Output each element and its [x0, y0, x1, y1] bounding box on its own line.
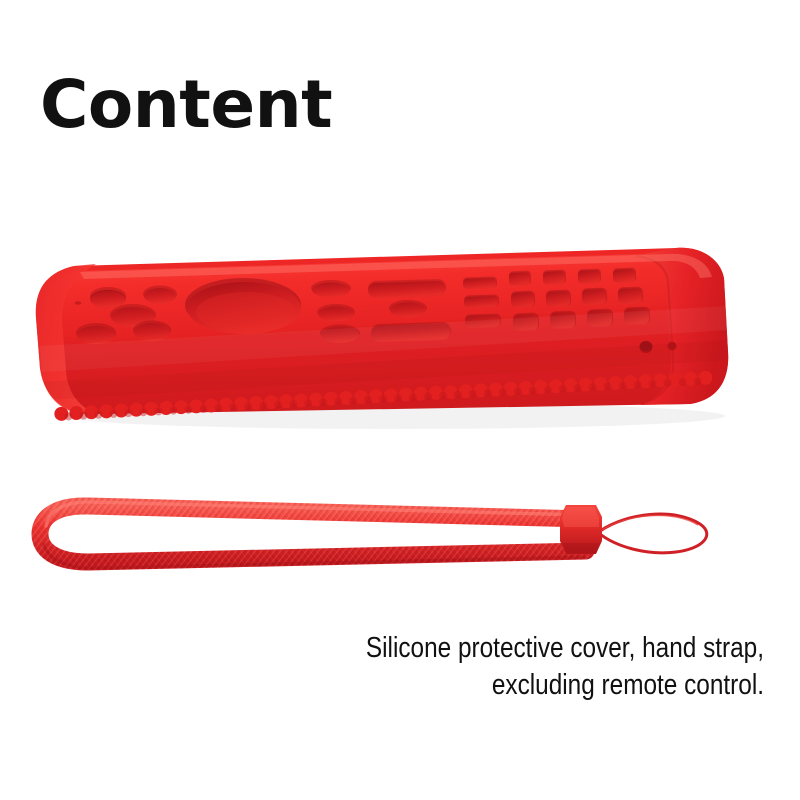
silicone-remote-cover	[36, 248, 730, 429]
product-image-canvas: Content	[0, 0, 800, 800]
hand-strap	[40, 502, 707, 568]
thin-attachment-loop	[600, 514, 707, 553]
nav-hole-right	[144, 288, 176, 304]
slider-shade	[562, 543, 600, 553]
nav-hole-up-inner	[91, 291, 125, 307]
key-r1c2	[543, 271, 565, 285]
strap-slider	[560, 505, 602, 554]
caption-line-2: excluding remote control.	[210, 667, 764, 704]
mic-pinhole	[75, 301, 82, 305]
key-r1c4	[613, 269, 635, 283]
caption-line-1: Silicone protective cover, hand strap,	[210, 630, 764, 667]
braided-cord-loop	[40, 502, 586, 568]
key-r1c1	[509, 272, 530, 286]
key-r1c3	[578, 270, 600, 284]
slider-highlight	[562, 507, 599, 527]
oval-hole-2	[368, 281, 445, 298]
keypad-slim-1	[463, 278, 496, 289]
caption-text: Silicone protective cover, hand strap, e…	[210, 630, 764, 704]
oval-hole-1	[312, 283, 350, 298]
